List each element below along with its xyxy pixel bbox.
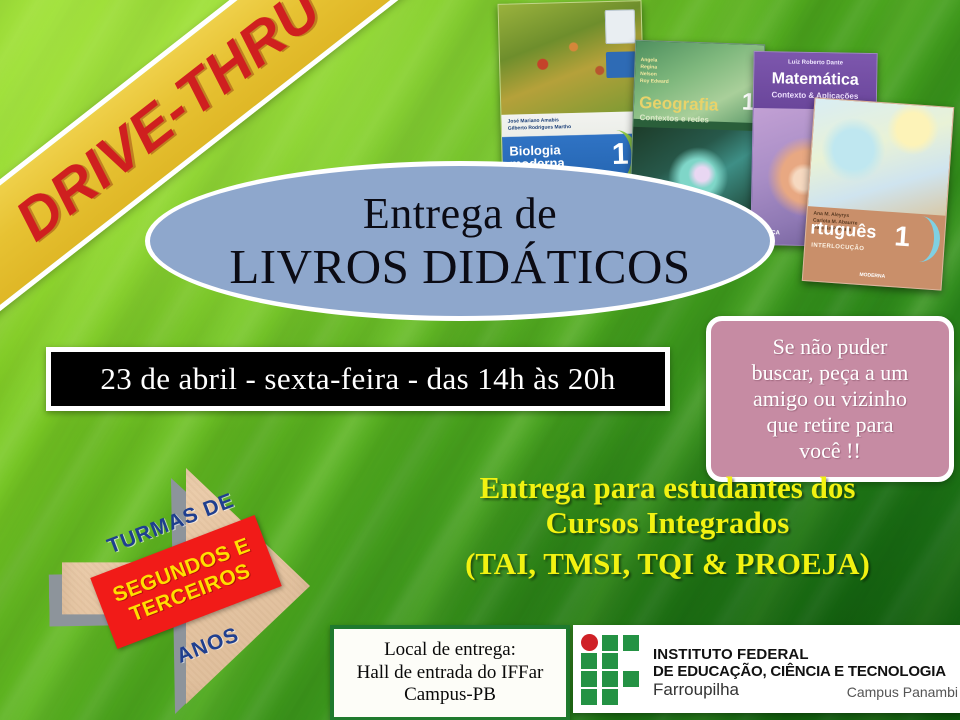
logo-square <box>623 671 639 687</box>
iffar-logo: INSTITUTO FEDERAL DE EDUCAÇÃO, CIÊNCIA E… <box>573 625 960 713</box>
logo-square <box>602 653 618 669</box>
note-line: que retire para <box>752 412 909 438</box>
note-line: buscar, peça a um <box>752 360 909 386</box>
book-publisher: MODERNA <box>859 272 885 280</box>
book-title: rtuguês <box>810 217 877 243</box>
book-cover-photo <box>808 98 953 215</box>
pickup-note-box: Se não puder buscar, peça a um amigo ou … <box>706 316 954 482</box>
location-line-3: Campus-PB <box>357 684 544 707</box>
book-authors: José Mariano Amabis Gilberto Rodrigues M… <box>508 117 572 133</box>
poster-canvas: José Mariano Amabis Gilberto Rodrigues M… <box>0 0 960 720</box>
title-line-2: LIVROS DIDÁTICOS <box>229 242 690 291</box>
logo-campus: Campus Panambi <box>847 684 958 700</box>
note-line: amigo ou vizinho <box>752 386 909 412</box>
logo-square <box>602 635 618 651</box>
book-biologia: José Mariano Amabis Gilberto Rodrigues M… <box>498 0 647 194</box>
pickup-note-text: Se não puder buscar, peça a um amigo ou … <box>746 334 915 464</box>
courses-line-1: Entrega para estudantes dos <box>395 470 940 505</box>
note-line: você !! <box>752 438 909 464</box>
note-line: Se não puder <box>752 334 909 360</box>
logo-square <box>581 671 597 687</box>
logo-red-dot-icon <box>581 634 598 651</box>
courses-line-2: Cursos Integrados <box>395 505 940 540</box>
logo-square <box>581 653 597 669</box>
book-volume: 1 <box>893 220 911 253</box>
courses-line-3: (TAI, TMSI, TQI & PROEJA) <box>395 545 940 582</box>
title-line-1: Entrega de <box>363 192 557 236</box>
logo-square <box>623 635 639 651</box>
logo-line-2: DE EDUCAÇÃO, CIÊNCIA E TECNOLOGIA <box>653 663 946 680</box>
book-seal-icon <box>605 9 636 44</box>
location-line-2: Hall de entrada do IFFar <box>357 662 544 685</box>
book-seal-secondary-icon <box>606 51 637 78</box>
page-title: Entrega de LIVROS DIDÁTICOS <box>150 166 770 316</box>
book-subtitle: INTERLOCUÇÃO <box>811 242 864 252</box>
location-line-1: Local de entrega: <box>357 639 544 662</box>
iffar-logo-mark-icon <box>581 634 643 704</box>
logo-square <box>581 689 597 705</box>
logo-square <box>602 689 618 705</box>
book-title: Matemática <box>754 70 876 90</box>
iffar-logo-text: INSTITUTO FEDERAL DE EDUCAÇÃO, CIÊNCIA E… <box>653 634 960 704</box>
book-title: Geografia <box>639 93 719 116</box>
delivery-location-text: Local de entrega: Hall de entrada do IFF… <box>357 639 544 707</box>
delivery-location-box: Local de entrega: Hall de entrada do IFF… <box>330 625 570 720</box>
book-authors: Angela Regina Nelson Roy Edward <box>640 57 670 86</box>
book-portugues: Ana M. Aleyrys Carlota M. Abaurre Marcel… <box>802 97 954 290</box>
courses-block: Entrega para estudantes dos Cursos Integ… <box>395 470 940 582</box>
logo-square <box>602 671 618 687</box>
date-bar: 23 de abril - sexta-feira - das 14h às 2… <box>46 347 670 411</box>
book-subtitle: Contextos e redes <box>639 113 709 124</box>
date-bar-text: 23 de abril - sexta-feira - das 14h às 2… <box>100 361 615 397</box>
logo-line-1: INSTITUTO FEDERAL <box>653 646 809 663</box>
logo-line-3: Farroupilha <box>653 680 739 700</box>
turmas-arrow-callout: TURMAS DE SEGUNDOS E TERCEIROS ANOS <box>62 468 330 720</box>
